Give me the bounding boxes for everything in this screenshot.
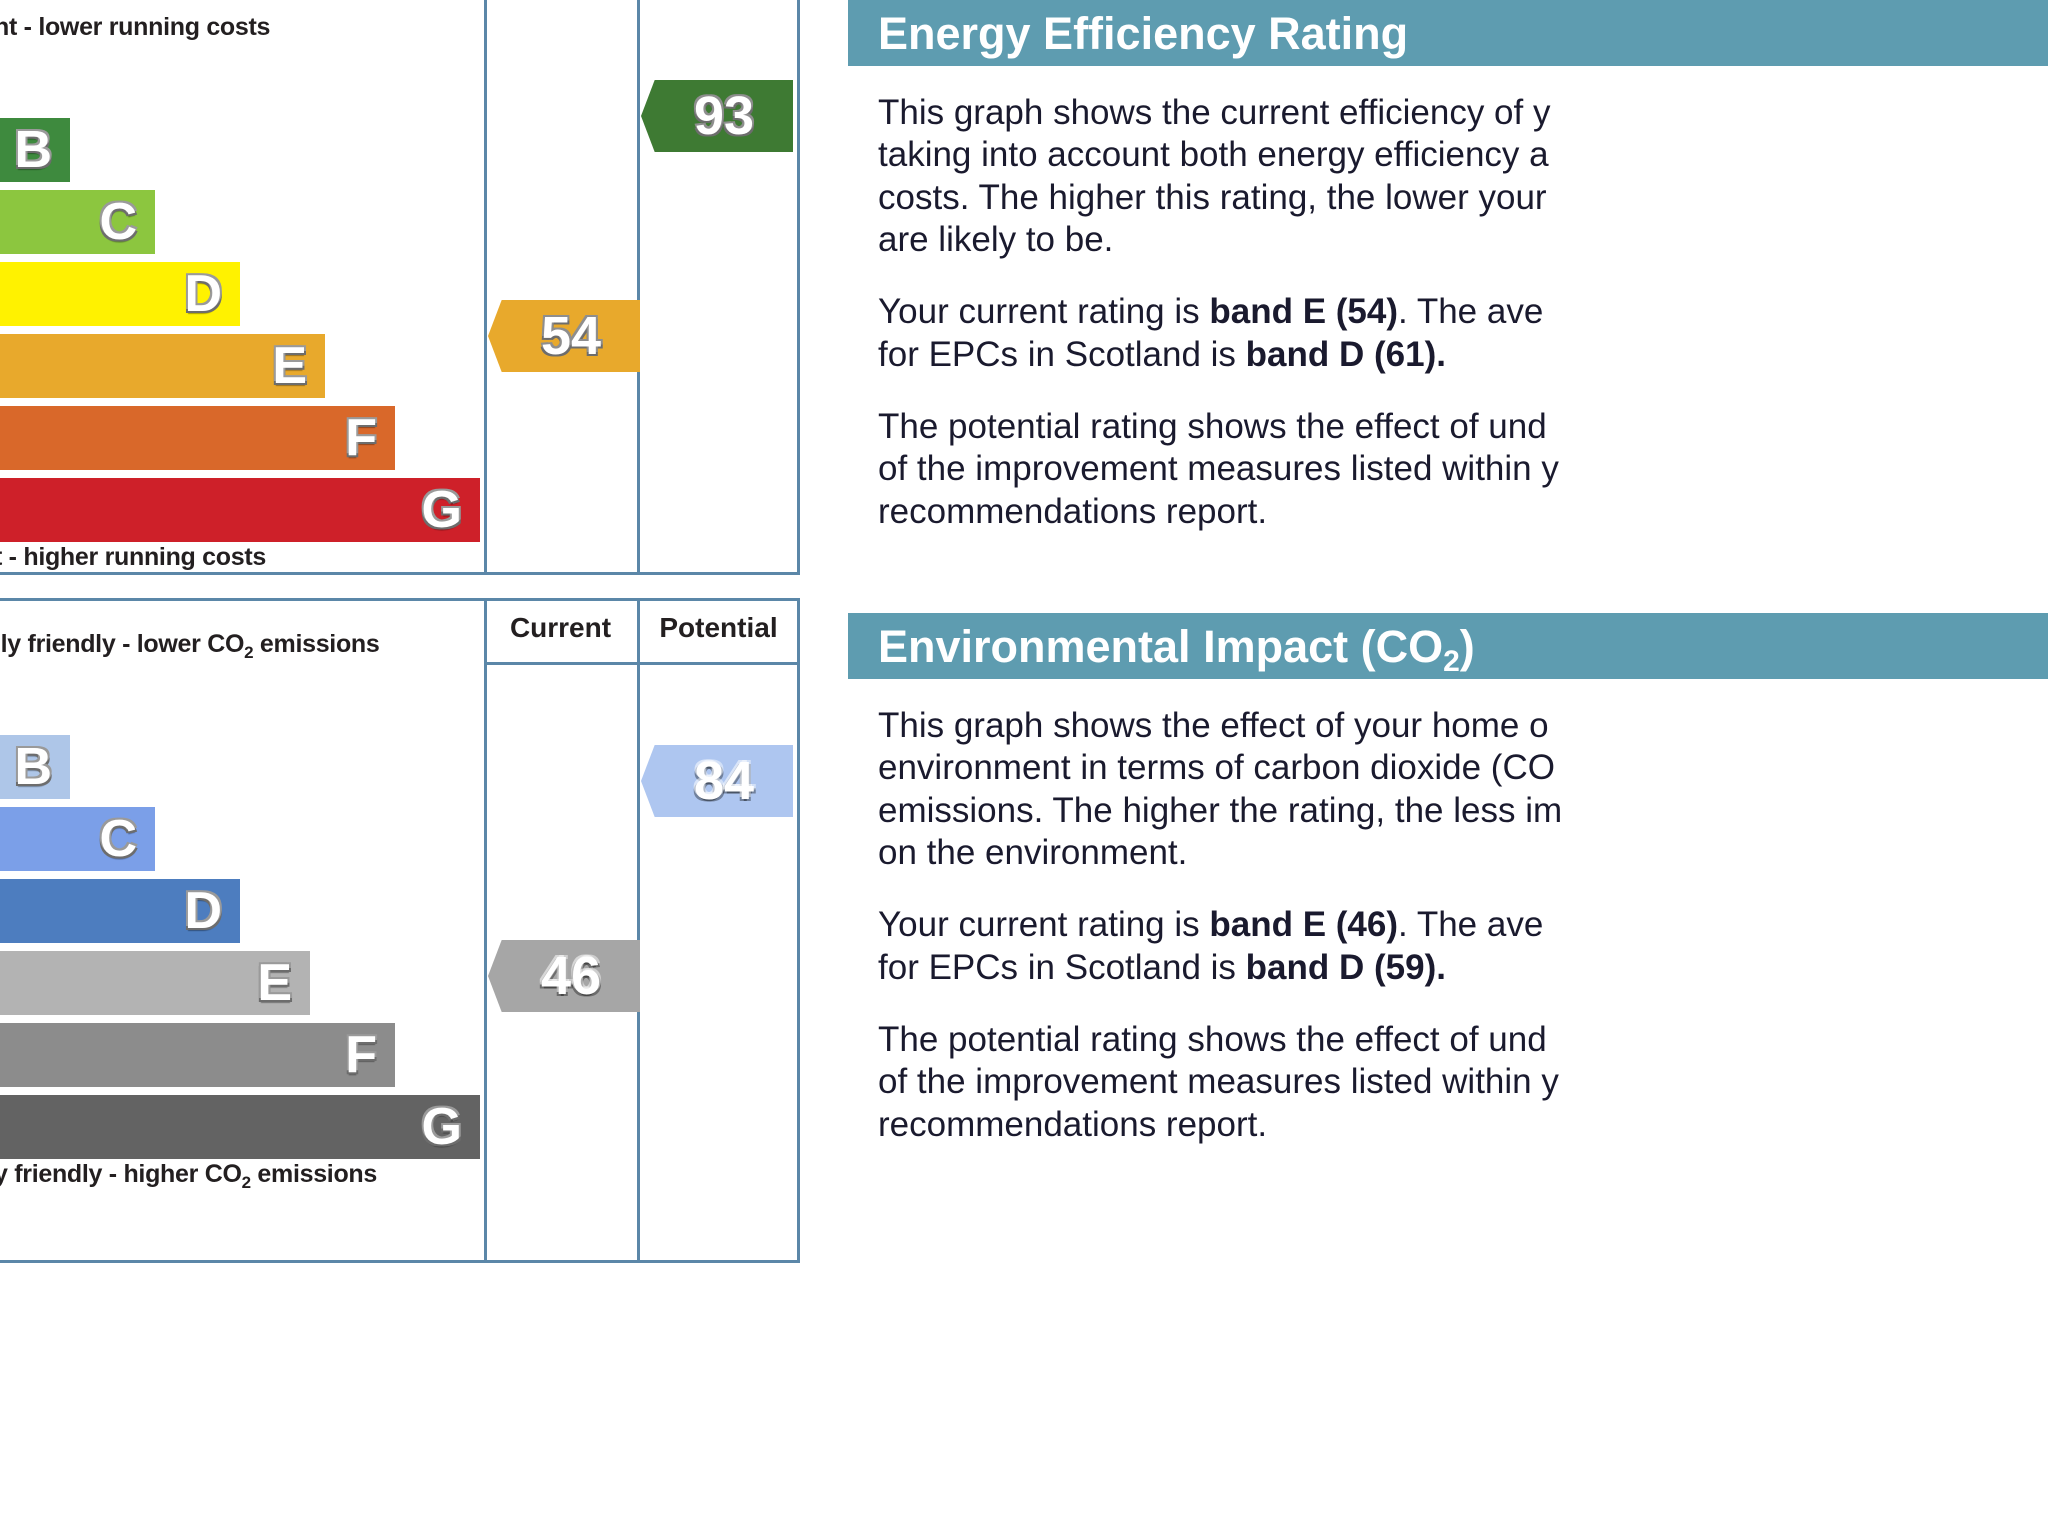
band-letter-d: D	[184, 268, 222, 320]
env-p1-line3: emissions. The higher the rating, the le…	[878, 791, 1562, 830]
env-p3-line1: The potential rating shows the effect of…	[878, 1020, 1547, 1059]
env-band-letter-e: E	[257, 957, 292, 1009]
epc-rating-page: nt - lower running costs B C D E F G t -…	[0, 0, 2048, 1536]
band-letter-f: F	[345, 412, 377, 464]
energy-p3-line3: recommendations report.	[878, 492, 1267, 531]
env-p2-line1: Your current rating is band E (46). The …	[878, 905, 1543, 944]
environmental-impact-bottom-caption: y friendly - higher CO2 emissions	[0, 1160, 377, 1189]
env-p3-line2: of the improvement measures listed withi…	[878, 1062, 1559, 1101]
band-bar-b: B	[0, 118, 70, 182]
energy-current-value: 54	[527, 309, 601, 363]
band-bar-e: E	[0, 334, 325, 398]
env-chart-header-rule	[484, 662, 800, 665]
env-p3-line3: recommendations report.	[878, 1105, 1267, 1144]
env-band-letter-g: G	[422, 1101, 462, 1153]
env-current-column-header: Current	[484, 600, 637, 656]
band-letter-e: E	[272, 340, 307, 392]
env-potential-column-header: Potential	[637, 600, 800, 656]
band-bar-d: D	[0, 262, 240, 326]
env-top-caption-main: lly friendly - lower CO	[0, 630, 244, 658]
band-letter-b: B	[14, 124, 52, 176]
env-band-bar-b: B	[0, 735, 70, 799]
energy-current-marker: 54	[488, 300, 640, 372]
energy-efficiency-panel-body: This graph shows the current efficiency …	[848, 66, 2048, 533]
band-bar-f: F	[0, 406, 395, 470]
energy-potential-marker: 93	[641, 80, 793, 152]
energy-efficiency-top-caption: nt - lower running costs	[0, 13, 270, 42]
env-bottom-caption-main: y friendly - higher CO	[0, 1160, 242, 1188]
environmental-impact-panel: Environmental Impact (CO2) This graph sh…	[848, 613, 2048, 1176]
energy-paragraph-3: The potential rating shows the effect of…	[878, 406, 2048, 533]
environmental-impact-top-caption: lly friendly - lower CO2 emissions	[0, 630, 380, 659]
env-p1-line2: environment in terms of carbon dioxide (…	[878, 748, 1555, 787]
env-band-letter-f: F	[345, 1029, 377, 1081]
env-title-main: Environmental Impact (CO	[878, 621, 1443, 672]
energy-p2-line1: Your current rating is band E (54). The …	[878, 292, 1543, 331]
energy-p1-line3: costs. The higher this rating, the lower…	[878, 178, 1547, 217]
env-chart-divider-mid	[637, 598, 640, 1263]
env-potential-label: Potential	[659, 612, 777, 644]
env-title-sub: 2	[1443, 645, 1460, 678]
band-letter-g: G	[422, 484, 462, 536]
env-band-bar-c: C	[0, 807, 155, 871]
env-current-value: 46	[527, 949, 601, 1003]
env-p1-line4: on the environment.	[878, 833, 1187, 872]
env-current-label: Current	[510, 612, 611, 644]
env-p2-line2: for EPCs in Scotland is band D (59).	[878, 948, 1446, 987]
env-potential-value: 84	[680, 754, 754, 808]
energy-paragraph-1: This graph shows the current efficiency …	[878, 92, 2048, 261]
environmental-impact-panel-title: Environmental Impact (CO2)	[848, 624, 1475, 669]
band-bar-c: C	[0, 190, 155, 254]
energy-chart-divider-mid	[637, 0, 640, 575]
env-title-tail: )	[1460, 621, 1475, 672]
env-band-letter-d: D	[184, 885, 222, 937]
env-paragraph-3: The potential rating shows the effect of…	[878, 1019, 2048, 1146]
energy-potential-value: 93	[680, 89, 754, 143]
env-top-caption-tail: emissions	[253, 630, 379, 658]
env-band-bar-d: D	[0, 879, 240, 943]
energy-efficiency-bottom-caption: t - higher running costs	[0, 543, 266, 572]
env-band-bar-f: F	[0, 1023, 395, 1087]
env-paragraph-2: Your current rating is band E (46). The …	[878, 904, 2048, 989]
environmental-impact-panel-header: Environmental Impact (CO2)	[848, 613, 2048, 679]
band-letter-c: C	[99, 196, 137, 248]
energy-p2-line2: for EPCs in Scotland is band D (61).	[878, 335, 1446, 374]
env-potential-marker: 84	[641, 745, 793, 817]
env-band-letter-b: B	[14, 741, 52, 793]
energy-efficiency-panel-header: Energy Efficiency Rating	[848, 0, 2048, 66]
band-bar-g: G	[0, 478, 480, 542]
energy-p3-line2: of the improvement measures listed withi…	[878, 449, 1559, 488]
env-top-caption-sub: 2	[244, 643, 253, 662]
energy-p1-line2: taking into account both energy efficien…	[878, 135, 1549, 174]
energy-paragraph-2: Your current rating is band E (54). The …	[878, 291, 2048, 376]
energy-p1-line1: This graph shows the current efficiency …	[878, 93, 1550, 132]
env-current-marker: 46	[488, 940, 640, 1012]
energy-efficiency-panel: Energy Efficiency Rating This graph show…	[848, 0, 2048, 563]
env-bottom-caption-tail: emissions	[251, 1160, 377, 1188]
environmental-impact-panel-body: This graph shows the effect of your home…	[848, 679, 2048, 1146]
env-band-letter-c: C	[99, 813, 137, 865]
env-chart-divider-left	[484, 598, 487, 1263]
env-bottom-caption-sub: 2	[242, 1173, 251, 1192]
env-band-bar-g: G	[0, 1095, 480, 1159]
energy-chart-divider-left	[484, 0, 487, 575]
env-band-bar-e: E	[0, 951, 310, 1015]
energy-p3-line1: The potential rating shows the effect of…	[878, 407, 1547, 446]
env-p1-line1: This graph shows the effect of your home…	[878, 706, 1549, 745]
energy-efficiency-panel-title: Energy Efficiency Rating	[848, 11, 1408, 56]
energy-p1-line4: are likely to be.	[878, 220, 1113, 259]
env-paragraph-1: This graph shows the effect of your home…	[878, 705, 2048, 874]
